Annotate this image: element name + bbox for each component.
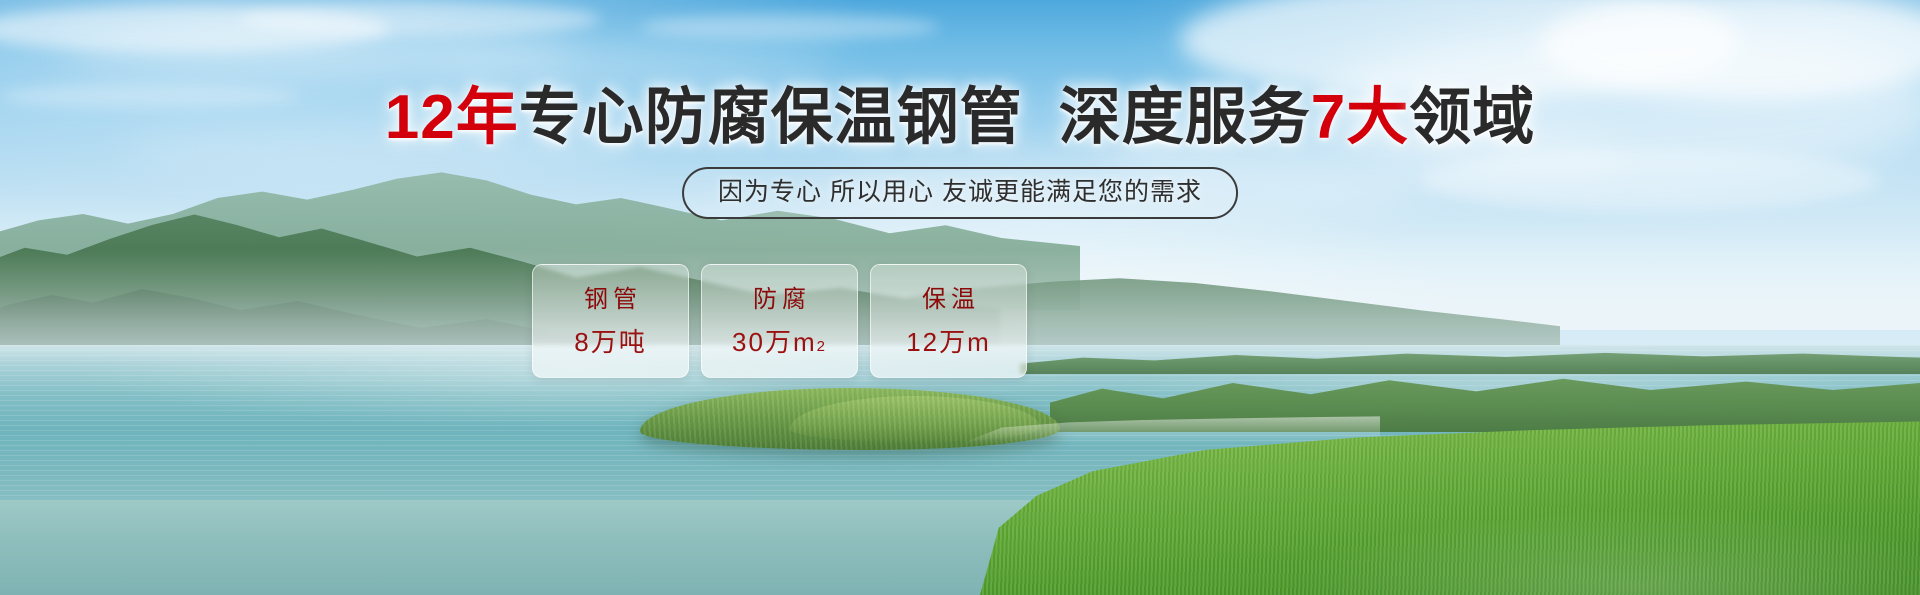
hero-banner: 12年专心防腐保温钢管深度服务7大领域 因为专心 所以用心 友诚更能满足您的需求… <box>0 0 1920 595</box>
stat-card-value: 30万m2 <box>732 327 827 357</box>
headline-segment-service: 深度服务 <box>1059 83 1311 152</box>
stat-card-label: 钢管 <box>579 285 642 315</box>
banner-headline: 12年专心防腐保温钢管深度服务7大领域 <box>0 84 1920 152</box>
subtitle-text: 因为专心 所以用心 友诚更能满足您的需求 <box>718 178 1202 206</box>
stat-card-value-sup: 2 <box>817 339 827 354</box>
subtitle-pill: 因为专心 所以用心 友诚更能满足您的需求 <box>682 167 1238 219</box>
headline-segment-years: 12年 <box>385 83 519 152</box>
stat-card-label: 防腐 <box>748 285 811 315</box>
stat-card-value-text: 8万吨 <box>574 327 646 357</box>
stat-card-label: 保温 <box>917 285 980 315</box>
headline-segment-focus: 专心防腐保温钢管 <box>519 83 1023 152</box>
stat-card-insulation: 保温 12万m <box>870 264 1027 378</box>
stat-card-value: 8万吨 <box>574 327 646 357</box>
stat-card-group: 钢管 8万吨 防腐 30万m2 保温 12万m <box>532 264 1027 378</box>
stat-card-value-text: 30万m <box>732 327 817 357</box>
headline-segment-seven: 7大 <box>1311 83 1409 152</box>
stat-card-steel-pipe: 钢管 8万吨 <box>532 264 689 378</box>
stat-card-anticorrosion: 防腐 30万m2 <box>701 264 858 378</box>
stat-card-value: 12万m <box>906 327 991 357</box>
stat-card-value-text: 12万m <box>906 327 991 357</box>
headline-segment-fields: 领域 <box>1409 83 1535 152</box>
